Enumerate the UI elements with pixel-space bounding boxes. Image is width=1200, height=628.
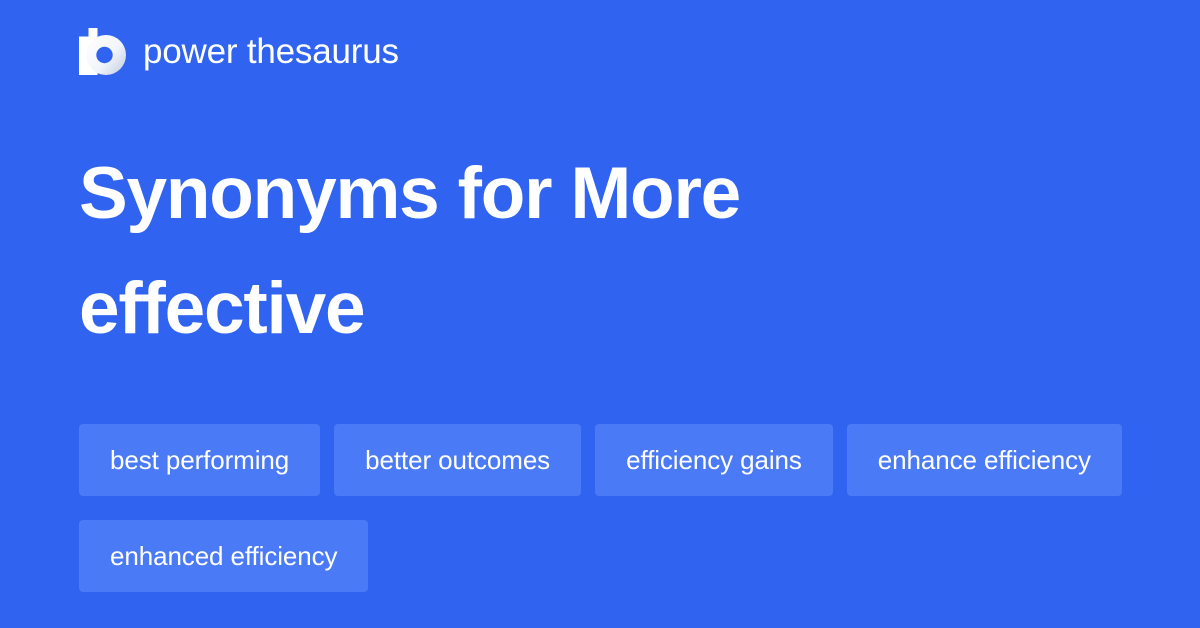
brand-header[interactable]: power thesaurus [79, 28, 399, 75]
synonym-chip[interactable]: best performing [79, 424, 320, 496]
synonym-chip[interactable]: enhance efficiency [847, 424, 1122, 496]
synonym-chip[interactable]: efficiency gains [595, 424, 833, 496]
synonyms-card: power thesaurus Synonyms for More effect… [0, 0, 1200, 628]
synonym-list: best performing better outcomes efficien… [79, 424, 1139, 592]
page-title: Synonyms for More effective [79, 137, 979, 366]
synonym-chip[interactable]: enhanced efficiency [79, 520, 368, 592]
brand-name: power thesaurus [143, 34, 399, 69]
power-thesaurus-b-logo-icon [79, 28, 126, 75]
synonym-chip[interactable]: better outcomes [334, 424, 581, 496]
